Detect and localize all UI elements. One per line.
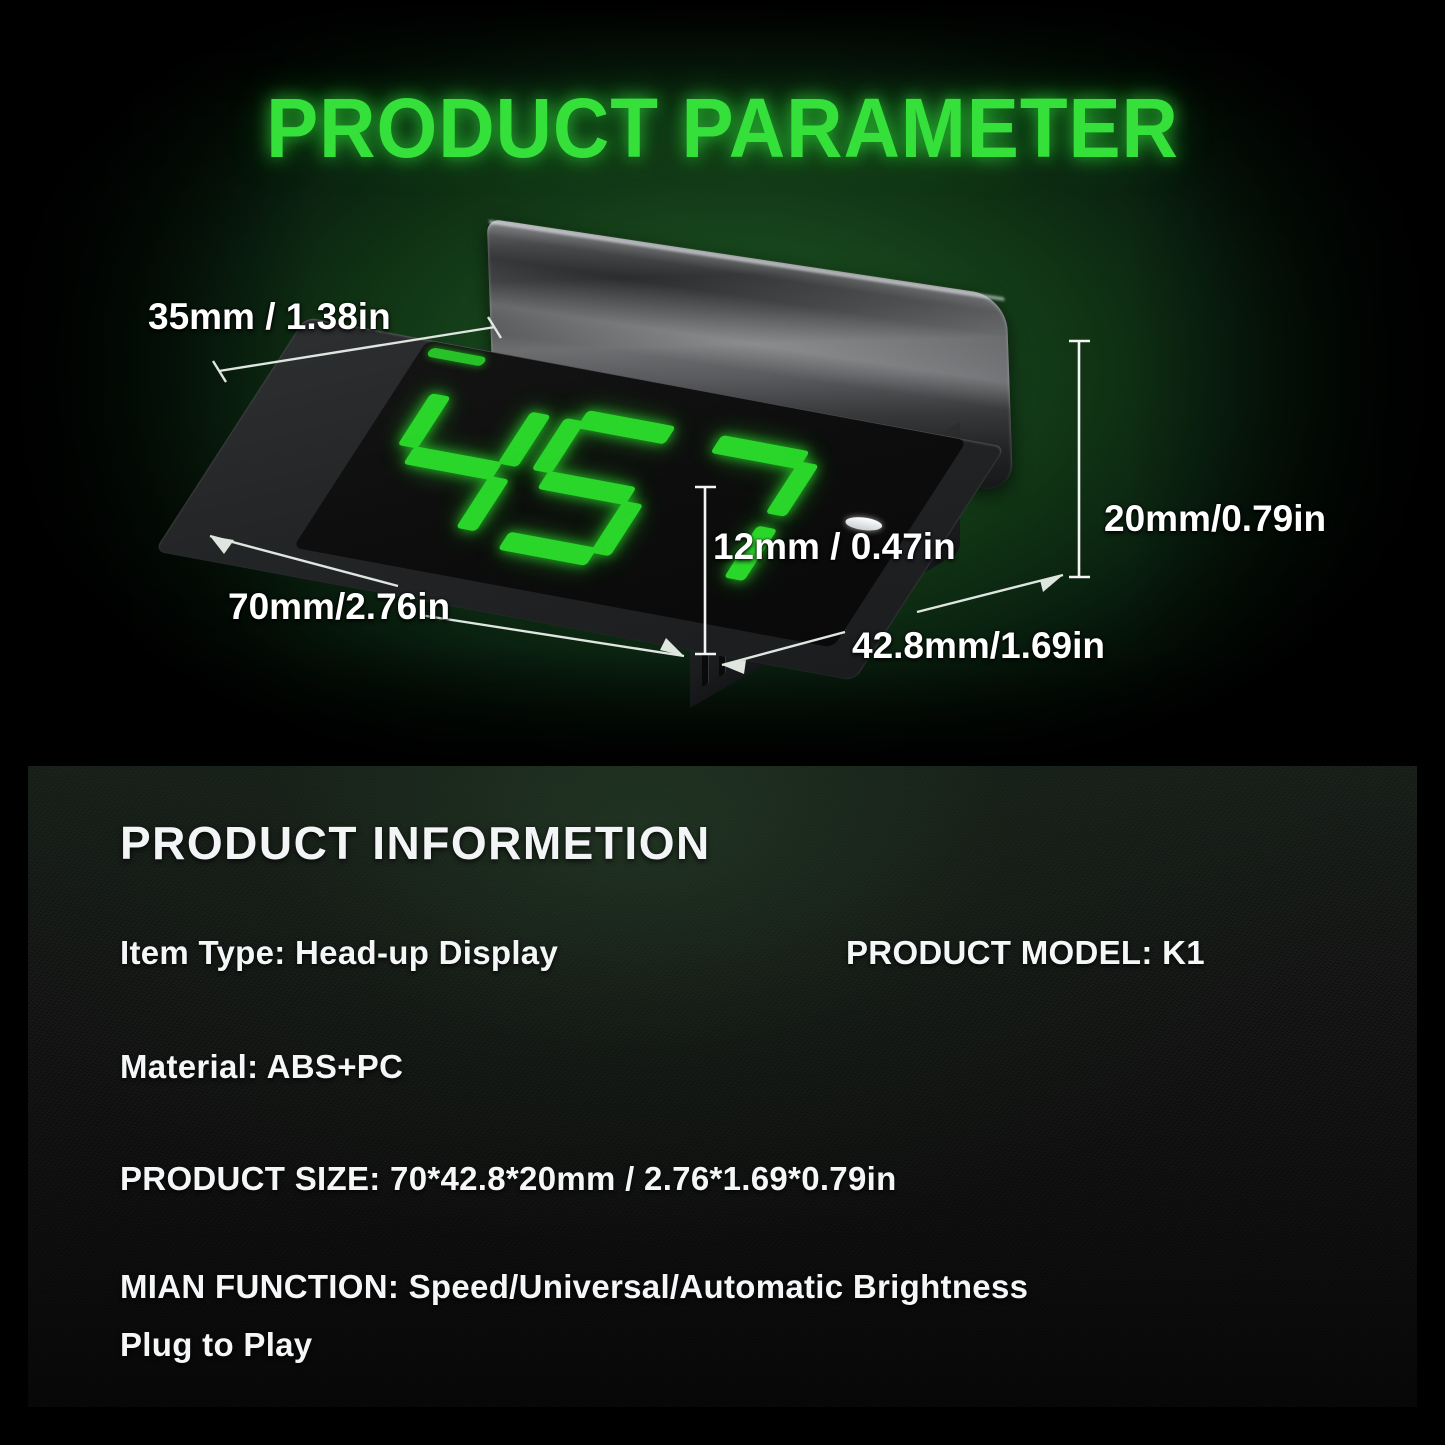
- spec-main-function: MIAN FUNCTION: Speed/Universal/Automatic…: [120, 1268, 1028, 1306]
- segment-b: [765, 461, 818, 517]
- spec-product-model: PRODUCT MODEL: K1: [846, 934, 1205, 972]
- spec-material: Material: ABS+PC: [120, 1048, 403, 1086]
- segment-d: [498, 532, 598, 566]
- product-parameter-page: PRODUCT PARAMETER: [0, 0, 1445, 1445]
- spec-item-type: Item Type: Head-up Display: [120, 934, 558, 972]
- dim-label-body-height: 12mm / 0.47in: [713, 526, 956, 568]
- product-information-panel: PRODUCT INFORMETION Item Type: Head-up D…: [28, 766, 1417, 1407]
- segment-f: [397, 393, 450, 449]
- unit-indicator-icon: [426, 347, 488, 366]
- spec-product-size: PRODUCT SIZE: 70*42.8*20mm / 2.76*1.69*0…: [120, 1160, 897, 1198]
- segment-a: [576, 410, 676, 444]
- dim-label-total-height: 20mm/0.79in: [1104, 498, 1326, 540]
- hero-section: PRODUCT PARAMETER: [0, 0, 1445, 768]
- page-title: PRODUCT PARAMETER: [51, 80, 1395, 177]
- segment-g: [403, 446, 503, 480]
- dim-label-depth: 35mm / 1.38in: [148, 296, 391, 338]
- dim-label-width: 70mm/2.76in: [228, 586, 450, 628]
- dim-label-side-depth: 42.8mm/1.69in: [852, 625, 1105, 667]
- segment-g: [537, 471, 637, 505]
- spec-plug-to-play: Plug to Play: [120, 1326, 312, 1364]
- info-heading: PRODUCT INFORMETION: [120, 816, 711, 870]
- segment-a: [710, 435, 810, 469]
